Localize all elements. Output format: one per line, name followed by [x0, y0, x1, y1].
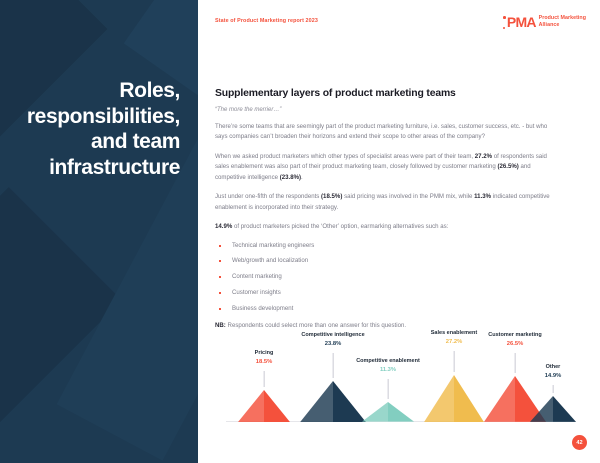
stat-highlight: 11.3%: [474, 193, 491, 200]
chart-value-label: 18.5%: [232, 359, 296, 366]
chart-label-stem: [333, 353, 334, 378]
list-item: Customer insights: [215, 289, 555, 297]
logo-mark-text: PMA: [507, 14, 536, 30]
chart-bar-group[interactable]: Sales enablement27.2%: [424, 375, 484, 422]
stat-highlight: (23.8%): [280, 174, 301, 181]
text-run: Just under one-fifth of the respondents: [215, 193, 321, 200]
text-run: .: [301, 174, 303, 181]
note-prefix: NB:: [215, 322, 226, 329]
logo-wordmark-line-1: Product Marketing: [539, 15, 586, 22]
chart-bar-group[interactable]: Competitive enablement11.3%: [362, 402, 414, 422]
chart-mountain-icon: [424, 375, 484, 422]
stat-highlight: 14.9%: [215, 223, 232, 230]
stat-highlight: (18.5%): [321, 193, 342, 200]
slide-page: Roles, responsibilities, and team infras…: [0, 0, 600, 463]
text-run: There’re some teams that are seemingly p…: [215, 123, 547, 140]
cover-title-line-2: responsibilities,: [8, 104, 180, 130]
pma-logo[interactable]: PMA Product Marketing Alliance: [507, 15, 586, 29]
chart-category-name: Customer marketing: [488, 332, 542, 338]
chart-mountain-icon: [238, 390, 290, 422]
chart-value-label: 26.5%: [483, 341, 547, 348]
pull-quote: “The more the merrier…”: [215, 107, 555, 113]
list-item: Technical marketing engineers: [215, 242, 555, 250]
chart-bar-label: Customer marketing26.5%: [483, 332, 547, 348]
text-run: When we asked product marketers which ot…: [215, 153, 475, 160]
chart-category-name: Pricing: [255, 350, 274, 356]
list-item: Business development: [215, 305, 555, 313]
chart-mountain-icon: [362, 402, 414, 422]
chart-category-name: Other: [546, 364, 561, 370]
chart-value-label: 11.3%: [356, 367, 420, 374]
cover-title-line-4: infrastructure: [8, 155, 180, 181]
note-line: NB: Respondents could select more than o…: [215, 322, 555, 329]
cover-panel: Roles, responsibilities, and team infras…: [0, 0, 198, 463]
chart-label-stem: [388, 379, 389, 399]
cover-title-line-1: Roles,: [8, 78, 180, 104]
chart-category-name: Sales enablement: [431, 330, 477, 336]
chart-value-label: 23.8%: [301, 341, 365, 348]
chart-mountain-icon: [530, 396, 576, 422]
paragraph: There’re some teams that are seemingly p…: [215, 122, 555, 143]
list-item: Content marketing: [215, 273, 555, 281]
mountain-bar-chart: Pricing18.5%Competitive intelligence23.8…: [226, 332, 576, 436]
chart-bar-label: Pricing18.5%: [232, 350, 296, 366]
cover-title-line-3: and team: [8, 129, 180, 155]
chart-bar-label: Competitive enablement11.3%: [356, 358, 420, 374]
page-title: Supplementary layers of product marketin…: [215, 88, 555, 99]
stat-highlight: 27.2%: [475, 153, 492, 160]
logo-wordmark: Product Marketing Alliance: [539, 15, 586, 29]
text-run: of product marketers picked the ‘Other’ …: [232, 223, 448, 230]
chart-bar-group[interactable]: Other14.9%: [530, 396, 576, 422]
chart-category-name: Competitive intelligence: [301, 332, 364, 338]
page-header: State of Product Marketing report 2023 P…: [215, 15, 586, 37]
body-content: Supplementary layers of product marketin…: [215, 88, 555, 329]
chart-label-stem: [264, 371, 265, 387]
paragraph: Just under one-fifth of the respondents …: [215, 192, 555, 213]
chart-category-name: Competitive enablement: [356, 358, 420, 364]
paragraph: When we asked product marketers which ot…: [215, 152, 555, 183]
chart-label-stem: [454, 351, 455, 372]
chart-label-stem: [553, 385, 554, 393]
chart-value-label: 27.2%: [422, 339, 486, 346]
logo-dot-upper-icon: [503, 16, 506, 19]
chart-bar-label: Sales enablement27.2%: [422, 330, 486, 346]
paragraph-list: There’re some teams that are seemingly p…: [215, 122, 555, 233]
list-item: Web/growth and localization: [215, 257, 555, 265]
note-text: Respondents could select more than one a…: [226, 322, 406, 329]
chart-value-label: 14.9%: [521, 373, 585, 380]
chart-bar-group[interactable]: Competitive intelligence23.8%: [300, 381, 366, 422]
other-options-list: Technical marketing engineersWeb/growth …: [215, 242, 555, 313]
text-run: said pricing was involved in the PMM mix…: [342, 193, 474, 200]
logo-mark: PMA: [507, 15, 536, 29]
logo-wordmark-line-2: Alliance: [539, 22, 586, 29]
paragraph: 14.9% of product marketers picked the ‘O…: [215, 222, 555, 232]
chart-bar-group[interactable]: Pricing18.5%: [238, 390, 290, 422]
chart-label-stem: [515, 353, 516, 373]
chart-mountain-icon: [300, 381, 366, 422]
page-number-badge: 42: [572, 435, 587, 450]
cover-title: Roles, responsibilities, and team infras…: [8, 78, 180, 180]
report-label: State of Product Marketing report 2023: [215, 15, 318, 24]
chart-bar-label: Competitive intelligence23.8%: [301, 332, 365, 348]
logo-dot-lower-icon: [503, 27, 505, 29]
content-panel: State of Product Marketing report 2023 P…: [198, 0, 600, 463]
chart-bar-label: Other14.9%: [521, 364, 585, 380]
stat-highlight: (26.5%): [497, 163, 518, 170]
